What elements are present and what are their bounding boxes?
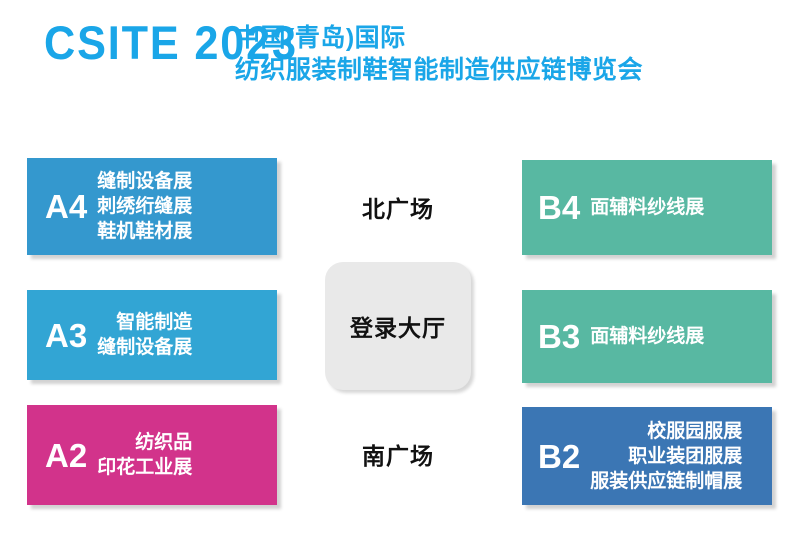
hall-block-a2[interactable]: A2 纺织品 印花工业展 (27, 405, 277, 505)
hall-code-a3: A3 (45, 319, 87, 352)
hall-exhibit-line: 缝制设备展 (97, 335, 192, 360)
hall-exhibit-line: 纺织品 (97, 430, 192, 455)
hall-block-b2[interactable]: B2 校服园服展 职业装团服展 服装供应链制帽展 (522, 407, 772, 505)
hall-exhibit-line: 印花工业展 (97, 455, 192, 480)
hall-code-b4: B4 (538, 191, 580, 224)
hall-exhibit-line: 刺绣绗缝展 (97, 194, 192, 219)
north-plaza-label: 北广场 (325, 190, 471, 224)
venue-floorplan: A4 缝制设备展 刺绣绗缝展 鞋机鞋材展 A3 智能制造 缝制设备展 A2 纺织… (0, 110, 800, 539)
hall-exhibits-b3: 面辅料纱线展 (590, 324, 704, 349)
registration-lobby-label: 登录大厅 (350, 309, 446, 343)
hall-exhibit-line: 鞋机鞋材展 (97, 219, 192, 244)
hall-block-a3[interactable]: A3 智能制造 缝制设备展 (27, 290, 277, 380)
registration-lobby-block[interactable]: 登录大厅 (325, 262, 471, 390)
hall-exhibits-b2: 校服园服展 职业装团服展 服装供应链制帽展 (590, 419, 742, 494)
hall-block-a4[interactable]: A4 缝制设备展 刺绣绗缝展 鞋机鞋材展 (27, 158, 277, 255)
event-title-line-1: 中国(青岛)国际 (235, 22, 643, 54)
hall-exhibit-line: 职业装团服展 (590, 444, 742, 469)
hall-code-b2: B2 (538, 440, 580, 473)
south-plaza-label: 南广场 (325, 437, 471, 471)
hall-exhibit-line: 智能制造 (97, 310, 192, 335)
hall-exhibits-a3: 智能制造 缝制设备展 (97, 310, 192, 360)
hall-exhibit-line: 面辅料纱线展 (590, 195, 704, 220)
hall-exhibits-a4: 缝制设备展 刺绣绗缝展 鞋机鞋材展 (97, 169, 192, 244)
hall-code-b3: B3 (538, 320, 580, 353)
event-header: CSITE 2023 中国(青岛)国际 纺织服装制鞋智能制造供应链博览会 (0, 0, 800, 110)
hall-block-b4[interactable]: B4 面辅料纱线展 (522, 160, 772, 255)
event-title-line-2: 纺织服装制鞋智能制造供应链博览会 (235, 54, 643, 86)
hall-exhibit-line: 服装供应链制帽展 (590, 469, 742, 494)
hall-block-b3[interactable]: B3 面辅料纱线展 (522, 290, 772, 383)
hall-code-a2: A2 (45, 439, 87, 472)
hall-exhibit-line: 缝制设备展 (97, 169, 192, 194)
hall-exhibit-line: 面辅料纱线展 (590, 324, 704, 349)
hall-exhibits-b4: 面辅料纱线展 (590, 195, 704, 220)
event-title: 中国(青岛)国际 纺织服装制鞋智能制造供应链博览会 (235, 22, 643, 86)
hall-exhibit-line: 校服园服展 (590, 419, 742, 444)
hall-exhibits-a2: 纺织品 印花工业展 (97, 430, 192, 480)
hall-code-a4: A4 (45, 190, 87, 223)
